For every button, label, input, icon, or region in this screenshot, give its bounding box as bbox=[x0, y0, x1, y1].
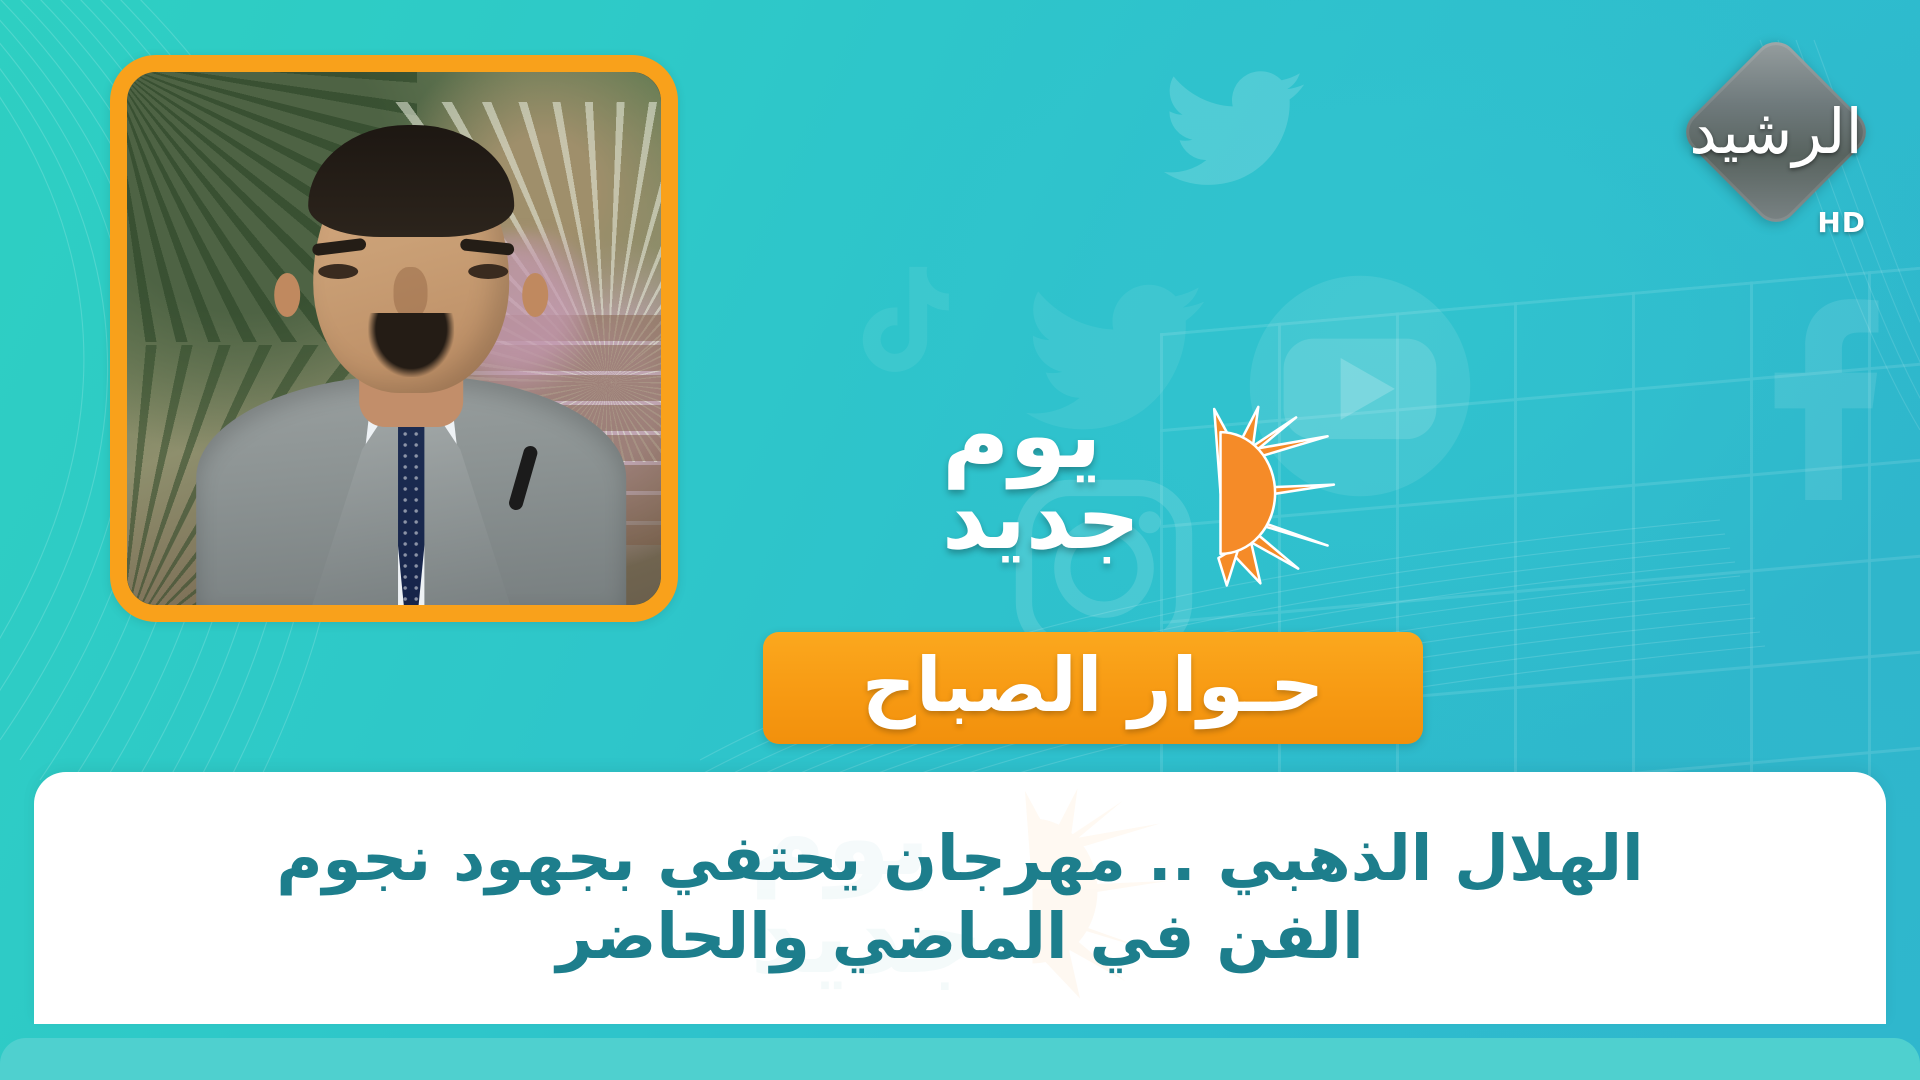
segment-label: حـوار الصباح bbox=[862, 648, 1324, 729]
headline-text: الهلال الذهبي .. مهرجان يحتفي بجهود نجوم… bbox=[220, 820, 1700, 976]
sun-rays-icon bbox=[1210, 398, 1336, 588]
channel-name: الرشيد bbox=[1696, 76, 1856, 188]
hd-badge: HD bbox=[1817, 206, 1866, 239]
ear-left bbox=[274, 273, 300, 317]
broadcast-frame: الرشيد HD يوم جديد حـوار الصباح bbox=[0, 0, 1920, 1080]
headline-panel: يوم جديد الهلال الذهبي .. مهرجان يحتفي ب… bbox=[34, 772, 1886, 1024]
nose bbox=[394, 267, 428, 319]
program-title: يوم جديد bbox=[942, 392, 1242, 561]
channel-logo: الرشيد HD bbox=[1696, 62, 1868, 244]
guest-photo bbox=[127, 72, 661, 605]
eye-right bbox=[468, 264, 508, 279]
eye-left bbox=[318, 264, 358, 279]
facebook-f-icon bbox=[1744, 290, 1896, 500]
hair bbox=[308, 125, 514, 237]
ear-right bbox=[522, 273, 548, 317]
program-title-line-2: جديد bbox=[942, 476, 1242, 560]
segment-banner: حـوار الصباح bbox=[763, 632, 1423, 744]
guest-person bbox=[196, 135, 626, 605]
bottom-accent-bar bbox=[0, 1038, 1920, 1080]
guest-photo-frame bbox=[110, 55, 678, 622]
goatee-beard bbox=[368, 313, 454, 377]
tiktok-note-icon bbox=[840, 236, 970, 404]
program-logo: يوم جديد bbox=[920, 392, 1360, 602]
twitter-bird-icon bbox=[1152, 58, 1316, 198]
